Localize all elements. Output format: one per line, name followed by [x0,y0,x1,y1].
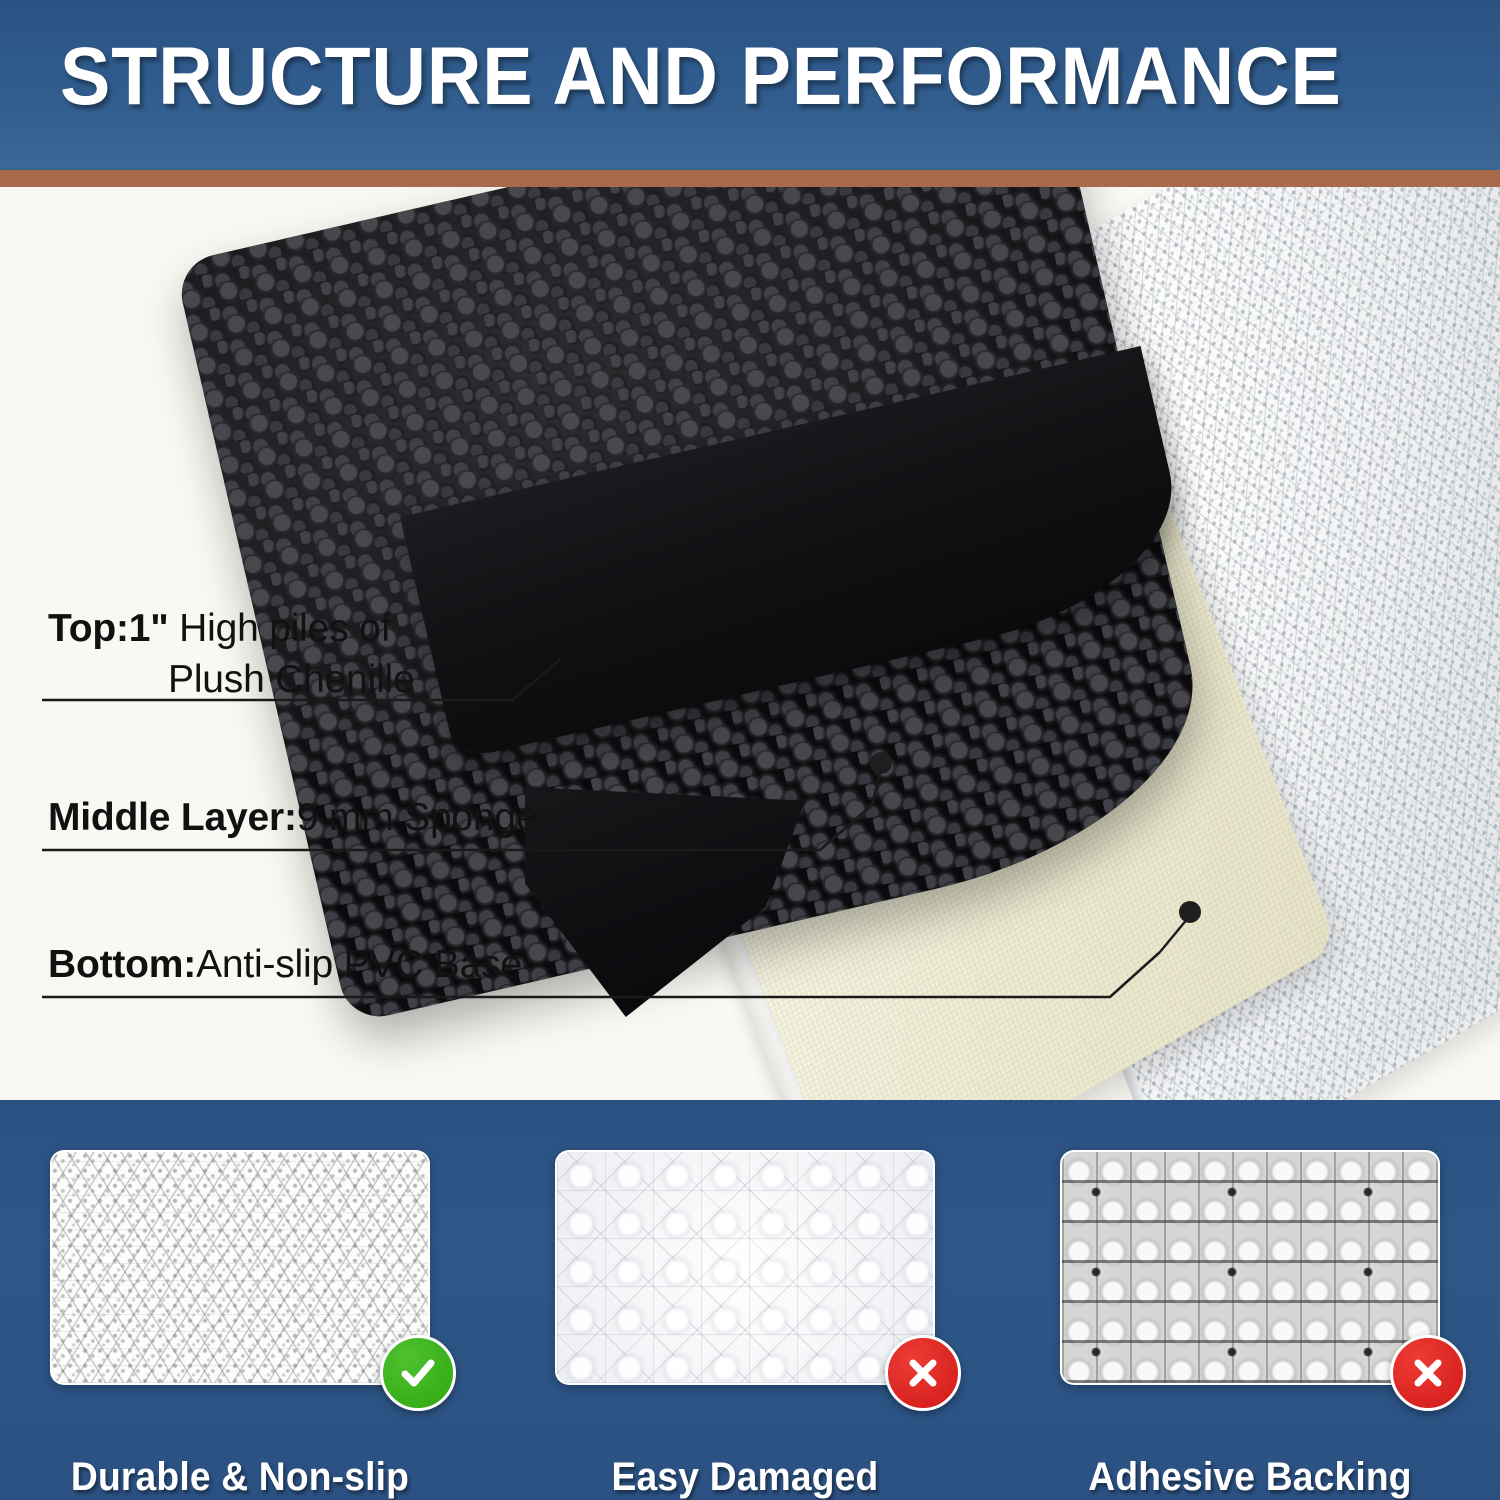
callout-top-rest: High piles of [169,607,392,650]
texture-open-mesh [52,1152,428,1383]
comparison-card-easy-damaged: Easy Damaged [555,1150,935,1385]
texture-grey-grid [1062,1152,1438,1383]
caption-adhesive-backing: Adhesive Backing Comes Off After Washing [1022,1455,1478,1500]
callout-top-line2: Plush Chenille [48,654,415,705]
caption-durable: Durable & Non-slip [26,1455,454,1500]
header-accent-rule [0,170,1500,187]
callout-middle-rest: 9 mm Sponge [297,796,538,839]
page-title: STRUCTURE AND PERFORMANCE [60,36,1348,118]
comparison-cards: Durable & Non-slip Easy Damaged [0,1100,1500,1500]
cross-icon [1390,1335,1466,1411]
callout-top-lead: Top:1" [48,607,169,650]
callout-bottom-rest: Anti-slip PVC Base [196,943,522,986]
comparison-card-adhesive-backing: Adhesive Backing Comes Off After Washing [1060,1150,1440,1385]
check-icon [380,1335,456,1411]
swatch-loop-grid [1060,1150,1440,1385]
comparison-card-durable: Durable & Non-slip [50,1150,430,1385]
cross-icon [885,1335,961,1411]
callout-bottom-lead: Bottom: [48,943,196,986]
infographic-page: STRUCTURE AND PERFORMANCE Top:1" High pi… [0,0,1500,1500]
swatch-pvc-mesh [50,1150,430,1385]
caption-easy-damaged: Easy Damaged [531,1455,959,1500]
swatch-embossed-foam [555,1150,935,1385]
comparison-section: Durable & Non-slip Easy Damaged [0,1100,1500,1500]
texture-embossed-star [557,1152,933,1383]
callout-middle-lead: Middle Layer: [48,796,297,839]
